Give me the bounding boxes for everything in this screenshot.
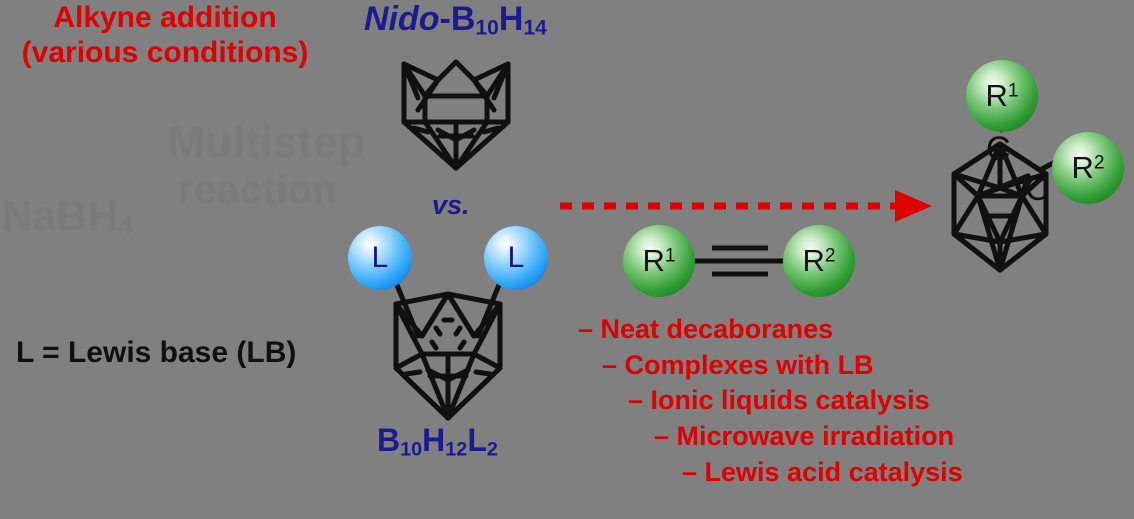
condition-item-1: – Neat decaboranes <box>560 312 1010 348</box>
condition-item-4: – Microwave irradiation <box>560 419 1010 455</box>
product-r1-superscript: 1 <box>1008 80 1019 101</box>
nido-title-dash: - <box>440 0 451 38</box>
reaction-arrow-head <box>895 190 932 222</box>
adduct-formula-sub12: 12 <box>445 438 467 460</box>
ghost-text-reaction: reaction <box>178 168 338 213</box>
conditions-list: – Neat decaboranes – Complexes with LB –… <box>560 312 1010 490</box>
product-r2-label: R2 <box>1071 150 1104 186</box>
product-carbon-vertex-2: C <box>1025 172 1050 206</box>
adduct-formula-H: H <box>422 422 445 458</box>
arrow-caption: Alkyne addition (various conditions) <box>0 0 330 71</box>
nido-title-sub14: 14 <box>523 17 546 40</box>
arrow-caption-line2: (various conditions) <box>0 35 330 70</box>
alkyne-r1-label: R1 <box>642 243 675 279</box>
nido-italic-word: Nido <box>364 0 440 38</box>
product-r1-label: R1 <box>985 78 1018 114</box>
nido-decaborane-cluster <box>404 62 508 168</box>
adduct-formula-sub2: 2 <box>487 438 498 460</box>
alkyne-r2-sphere: R2 <box>783 225 855 297</box>
product-r2-superscript: 2 <box>1094 152 1105 173</box>
reaction-scheme-figure: Multistep reaction NaBH4 Nido-B10H14 <box>0 0 1134 519</box>
ghost-text-nabh4: NaBH4 <box>2 192 133 242</box>
alkyne-r1-sphere: R1 <box>623 225 695 297</box>
ghost-nabh4-sub: 4 <box>118 213 133 241</box>
adduct-formula-L: L <box>467 422 487 458</box>
condition-item-3: – Ionic liquids catalysis <box>560 383 1010 419</box>
adduct-formula: B10H12L2 <box>377 424 498 460</box>
product-r1-sphere: R1 <box>966 60 1038 132</box>
nido-title: Nido-B10H14 <box>364 2 547 39</box>
alkyne-r2-letter: R <box>802 243 824 278</box>
alkyne-triple-bond <box>694 248 786 274</box>
nido-title-B: B <box>451 0 476 38</box>
ligand-label-right: L <box>508 241 525 275</box>
lewis-base-legend: L = Lewis base (LB) <box>16 338 296 368</box>
nido-title-sub10: 10 <box>475 17 498 40</box>
alkyne-r2-label: R2 <box>802 243 835 279</box>
alkyne-r2-superscript: 2 <box>825 245 836 266</box>
product-r2-letter: R <box>1071 150 1093 185</box>
condition-item-2: – Complexes with LB <box>560 348 1010 384</box>
condition-item-5: – Lewis acid catalysis <box>560 455 1010 491</box>
reaction-arrow <box>560 190 932 222</box>
ligand-sphere-left: L <box>348 226 412 290</box>
arrow-caption-line1: Alkyne addition <box>0 0 330 35</box>
product-r2-sphere: R2 <box>1052 132 1124 204</box>
vs-label: vs. <box>432 192 470 219</box>
product-r1-letter: R <box>985 78 1007 113</box>
ligand-sphere-right: L <box>484 226 548 290</box>
ligand-label-left: L <box>372 241 389 275</box>
alkyne-r1-letter: R <box>642 243 664 278</box>
ghost-text-multistep: Multistep <box>168 118 366 168</box>
nido-title-H: H <box>499 0 524 38</box>
adduct-formula-B: B <box>377 422 400 458</box>
product-carbon-vertex-1: C <box>986 132 1011 166</box>
ghost-nabh4-main: NaBH <box>2 192 118 239</box>
adduct-formula-sub10: 10 <box>400 438 422 460</box>
alkyne-r1-superscript: 1 <box>665 245 676 266</box>
